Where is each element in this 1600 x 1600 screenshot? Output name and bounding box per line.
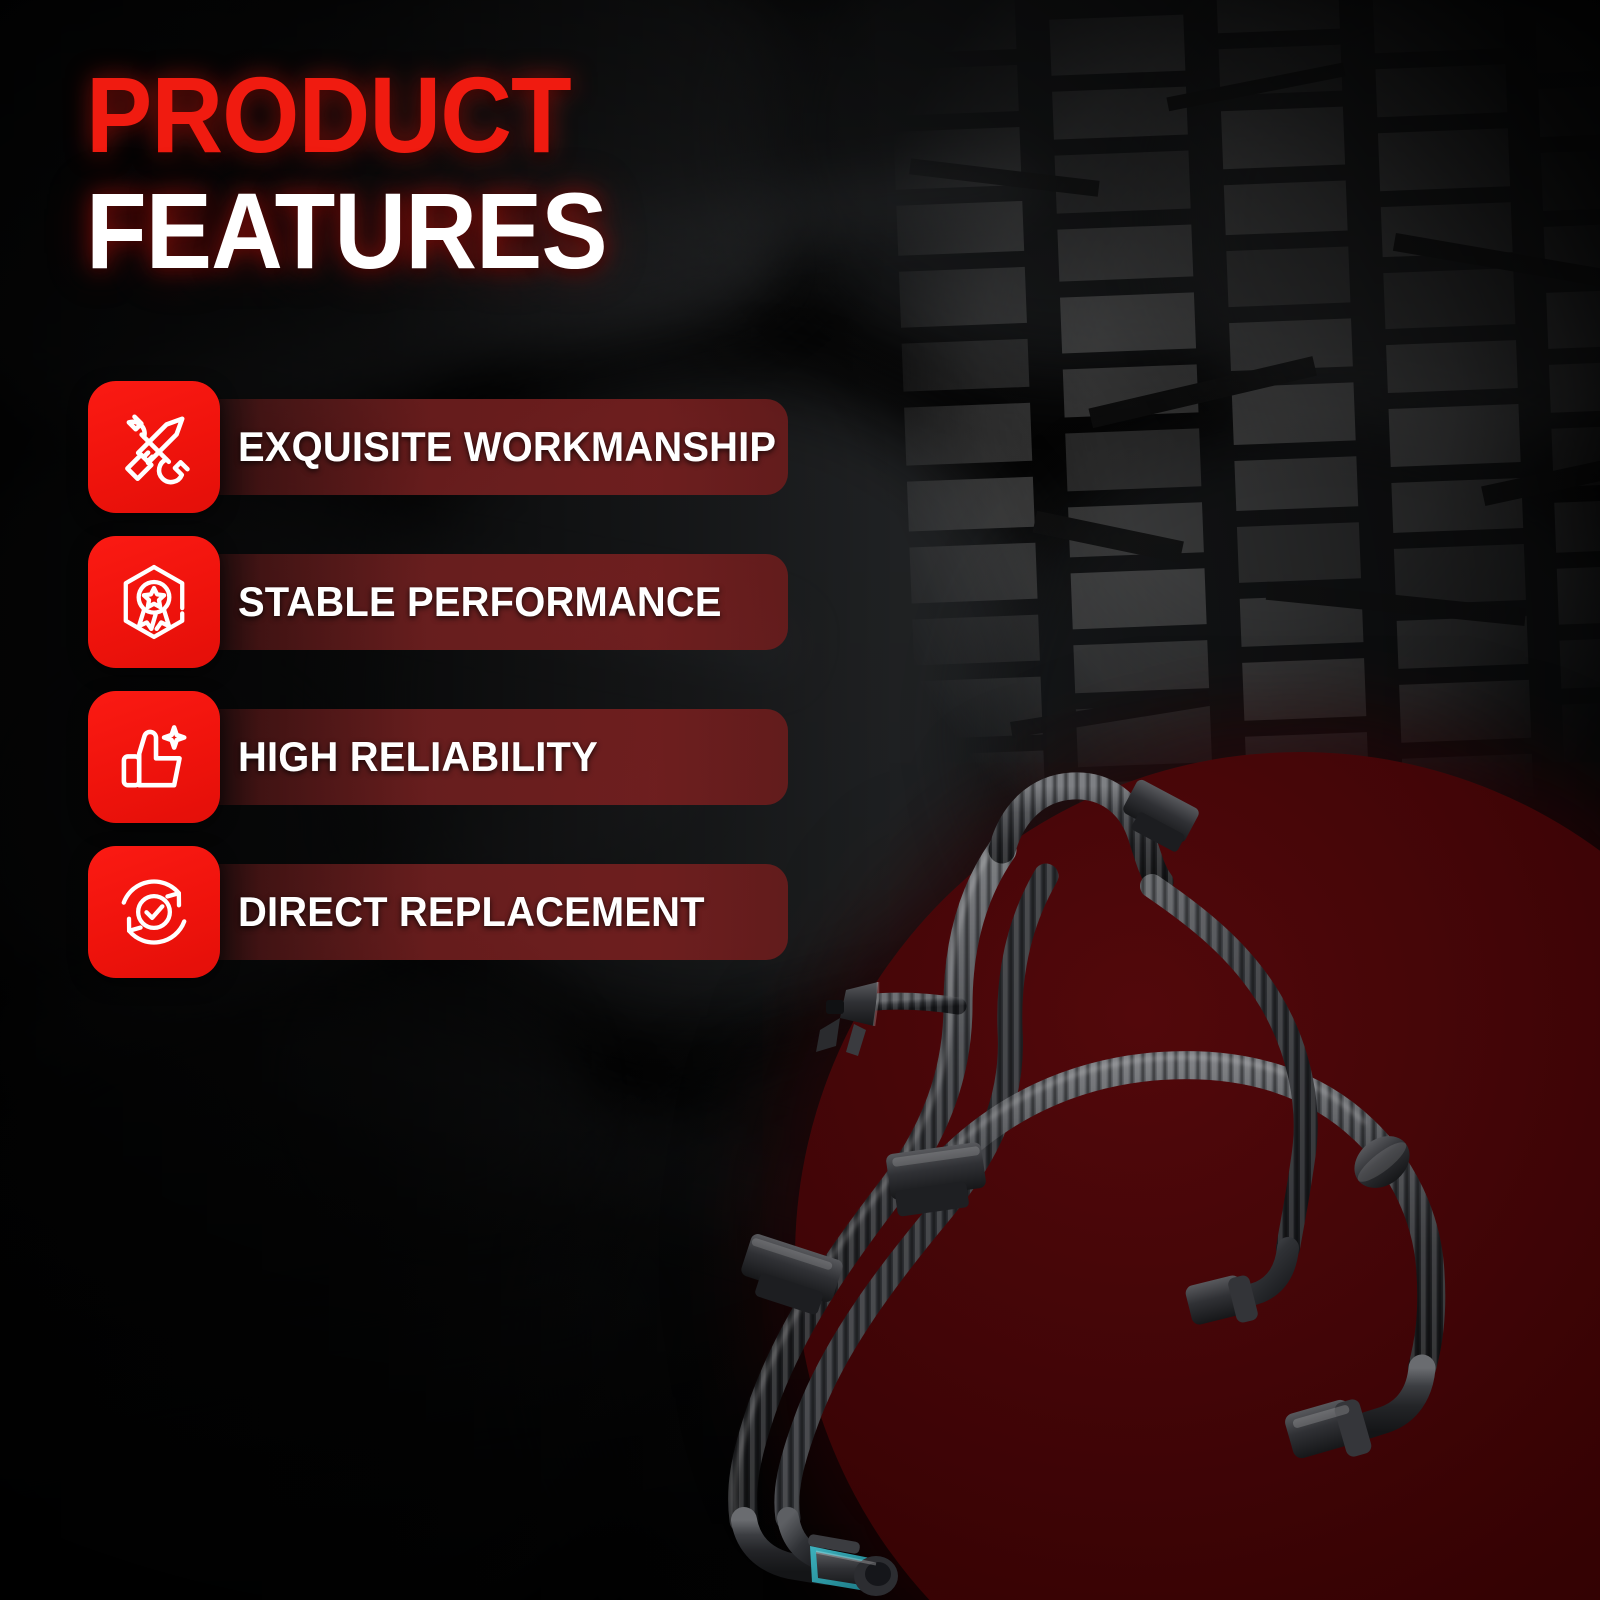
feature-row: EXQUISITE WORKMANSHIP <box>88 381 848 536</box>
corrugated-wiring-harness-hose-assembly <box>640 700 1600 1600</box>
feature-icon-tile <box>88 536 220 668</box>
title-line-features: FEATURES <box>86 178 785 284</box>
product-features-banner: PRODUCT FEATURES EXQUISITE WORK <box>0 0 1600 1600</box>
feature-row: DIRECT REPLACEMENT <box>88 846 848 978</box>
feature-icon-tile <box>88 846 220 978</box>
feature-label: DIRECT REPLACEMENT <box>238 864 705 960</box>
product-image <box>640 700 1600 1600</box>
harness-stub-left-connector <box>876 1001 958 1006</box>
connector-two-pin <box>816 982 878 1056</box>
title-line-product: PRODUCT <box>86 62 785 168</box>
harness-junction-block-center <box>885 1142 986 1217</box>
connector-mid-fitting <box>1184 1248 1288 1326</box>
connector-right-angle-fitting <box>1283 1368 1422 1460</box>
harness-branch-right <box>940 1057 1431 1368</box>
connector-bottom-teal <box>744 1518 898 1596</box>
wrench-screwdriver-icon <box>111 404 197 490</box>
shield-award-badge-icon <box>111 559 197 645</box>
feature-icon-tile <box>88 691 220 823</box>
page-title: PRODUCT FEATURES <box>86 62 846 284</box>
refresh-check-circle-icon <box>111 869 197 955</box>
feature-label: HIGH RELIABILITY <box>238 709 598 805</box>
feature-icon-tile <box>88 381 220 513</box>
feature-label: STABLE PERFORMANCE <box>238 554 722 650</box>
thumbs-up-sparkle-icon <box>111 714 197 800</box>
feature-list: EXQUISITE WORKMANSHIP STABLE <box>88 381 848 978</box>
feature-label: EXQUISITE WORKMANSHIP <box>238 399 776 495</box>
feature-row: STABLE PERFORMANCE <box>88 536 848 691</box>
